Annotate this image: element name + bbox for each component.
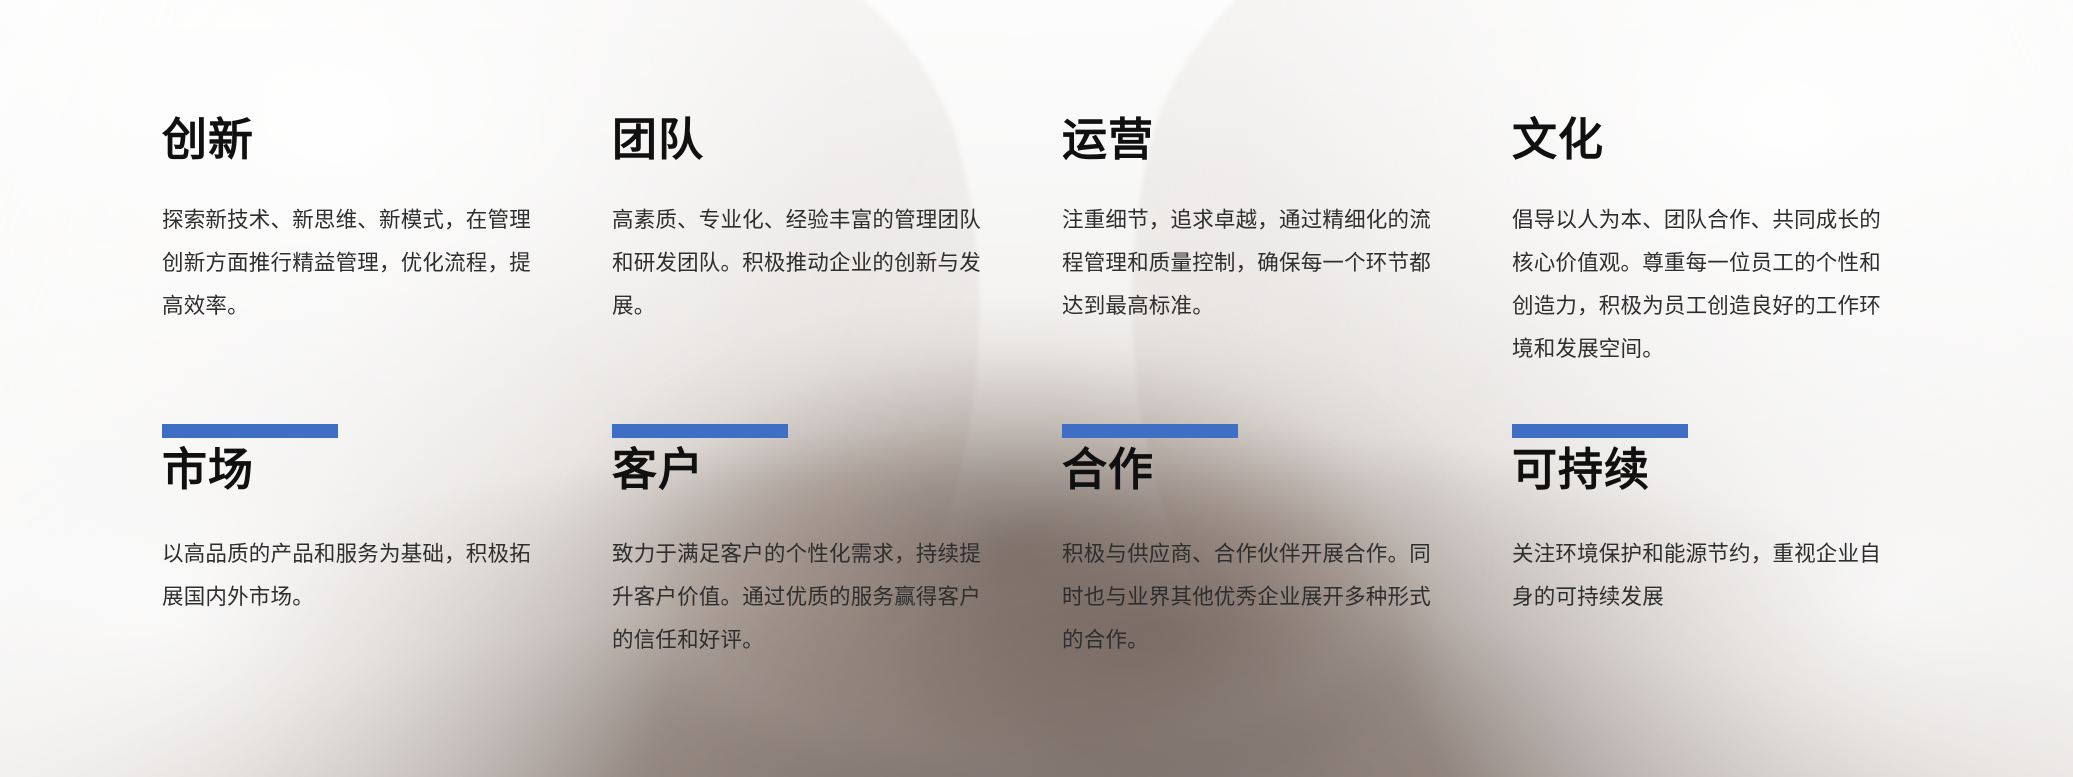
value-card-accent-bar <box>1062 424 1238 438</box>
value-card-body: 高素质、专业化、经验丰富的管理团队和研发团队。积极推动企业的创新与发展。 <box>600 199 1040 328</box>
value-card-title: 运营 <box>1050 116 1490 163</box>
value-card-title: 客户 <box>600 446 1040 493</box>
value-card-title: 文化 <box>1500 116 1940 163</box>
values-section: 创新 探索新技术、新思维、新模式，在管理创新方面推行精益管理，优化流程，提高效率… <box>0 0 2073 777</box>
value-card-accent-bar <box>1512 424 1688 438</box>
values-grid: 创新 探索新技术、新思维、新模式，在管理创新方面推行精益管理，优化流程，提高效率… <box>150 116 1950 746</box>
value-card-sustainability: 可持续 关注环境保护和能源节约，重视企业自身的可持续发展 <box>1500 446 1940 746</box>
value-card-body: 关注环境保护和能源节约，重视企业自身的可持续发展 <box>1500 533 1940 619</box>
value-card-accent-bar <box>612 424 788 438</box>
value-card-accent-bar <box>162 424 338 438</box>
value-card-title: 市场 <box>150 446 590 493</box>
value-card-title: 可持续 <box>1500 446 1940 493</box>
value-card-team: 团队 高素质、专业化、经验丰富的管理团队和研发团队。积极推动企业的创新与发展。 <box>600 116 1040 446</box>
value-card-title: 团队 <box>600 116 1040 163</box>
value-card-title: 创新 <box>150 116 590 163</box>
value-card-market: 市场 以高品质的产品和服务为基础，积极拓展国内外市场。 <box>150 446 590 746</box>
value-card-innovation: 创新 探索新技术、新思维、新模式，在管理创新方面推行精益管理，优化流程，提高效率… <box>150 116 590 446</box>
value-card-body: 致力于满足客户的个性化需求，持续提升客户价值。通过优质的服务赢得客户的信任和好评… <box>600 533 1040 662</box>
value-card-body: 探索新技术、新思维、新模式，在管理创新方面推行精益管理，优化流程，提高效率。 <box>150 199 590 328</box>
value-card-operations: 运营 注重细节，追求卓越，通过精细化的流程管理和质量控制，确保每一个环节都达到最… <box>1050 116 1490 446</box>
value-card-cooperation: 合作 积极与供应商、合作伙伴开展合作。同时也与业界其他优秀企业展开多种形式的合作… <box>1050 446 1490 746</box>
value-card-body: 以高品质的产品和服务为基础，积极拓展国内外市场。 <box>150 533 590 619</box>
value-card-body: 倡导以人为本、团队合作、共同成长的核心价值观。尊重每一位员工的个性和创造力，积极… <box>1500 199 1940 371</box>
value-card-culture: 文化 倡导以人为本、团队合作、共同成长的核心价值观。尊重每一位员工的个性和创造力… <box>1500 116 1940 446</box>
value-card-body: 积极与供应商、合作伙伴开展合作。同时也与业界其他优秀企业展开多种形式的合作。 <box>1050 533 1490 662</box>
value-card-customer: 客户 致力于满足客户的个性化需求，持续提升客户价值。通过优质的服务赢得客户的信任… <box>600 446 1040 746</box>
value-card-body: 注重细节，追求卓越，通过精细化的流程管理和质量控制，确保每一个环节都达到最高标准… <box>1050 199 1490 328</box>
value-card-title: 合作 <box>1050 446 1490 493</box>
